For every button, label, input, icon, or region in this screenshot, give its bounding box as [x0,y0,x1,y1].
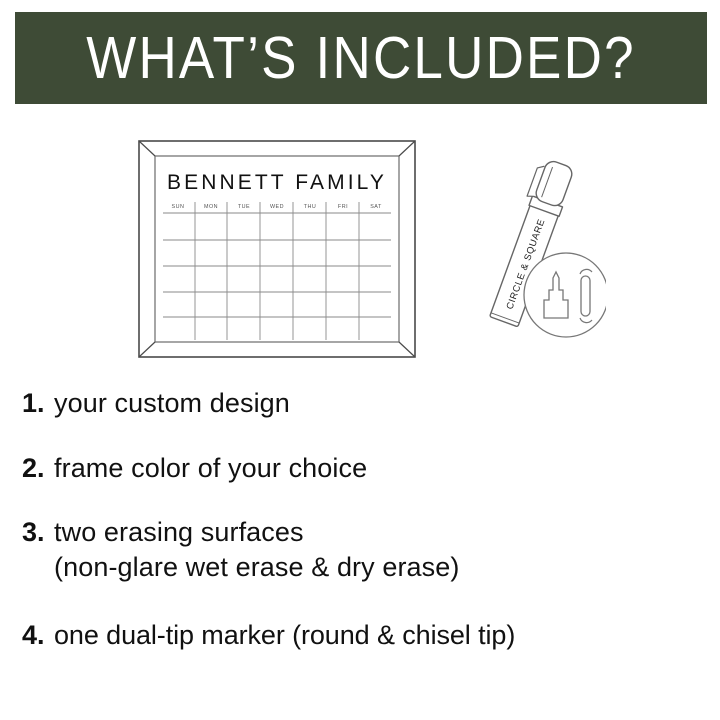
calendar-svg: BENNETT FAMILY SUN MON TUE WED THU FRI S… [138,140,416,358]
calendar-illustration: BENNETT FAMILY SUN MON TUE WED THU FRI S… [138,140,416,358]
day-header-sun: SUN [172,204,185,210]
list-item-number: 4. [22,618,54,653]
list-item-text: two erasing surfaces [54,517,304,547]
calendar-board-title: BENNETT FAMILY [167,171,387,194]
list-item: 3. two erasing surfaces (non-glare wet e… [0,515,720,584]
list-item-text-line2: (non-glare wet erase & dry erase) [54,550,459,585]
illustration-row: BENNETT FAMILY SUN MON TUE WED THU FRI S… [0,112,720,380]
day-header-fri: FRI [338,204,348,210]
marker-illustration: CIRCLE & SQUARE [466,150,606,365]
day-header-wed: WED [270,204,284,210]
list-item-text: frame color of your choice [54,451,367,486]
included-items-list: 1. your custom design 2. frame color of … [0,382,720,667]
header-banner: WHAT’S INCLUDED? [15,12,707,104]
list-item-number: 3. [22,515,54,550]
list-item: 2. frame color of your choice [0,451,720,486]
marker-svg: CIRCLE & SQUARE [466,150,606,365]
day-header-mon: MON [204,204,218,210]
round-tip-shape [581,276,590,316]
page-title: WHAT’S INCLUDED? [86,28,636,87]
list-item: 4. one dual-tip marker (round & chisel t… [0,618,720,653]
day-header-thu: THU [304,204,317,210]
list-item-text: one dual-tip marker (round & chisel tip) [54,618,515,653]
list-item: 1. your custom design [0,386,720,421]
list-item-number: 2. [22,451,54,486]
list-item-text-block: two erasing surfaces (non-glare wet eras… [54,515,459,584]
marker-tip-detail [524,253,606,337]
list-item-number: 1. [22,386,54,421]
list-item-text: your custom design [54,386,290,421]
day-header-sat: SAT [370,204,382,210]
day-header-tue: TUE [238,204,250,210]
